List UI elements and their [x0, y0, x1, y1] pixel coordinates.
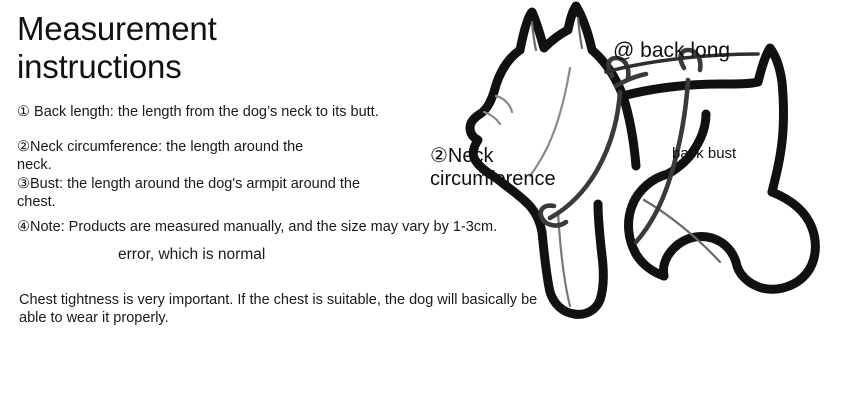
error-tolerance-text: error, which is normal — [118, 245, 265, 264]
measurement-instructions-page: Measurement instructions ① Back length: … — [0, 0, 867, 412]
instruction-neck-circumference: ②Neck circumference: the length around t… — [17, 138, 357, 174]
dog-front-legs — [542, 204, 603, 314]
callout-back-long: @ back long — [613, 38, 730, 63]
callout-neck-circumference: ②Neck circumference — [430, 145, 556, 191]
strap-rings — [541, 50, 701, 225]
callout-back-bust: back bust — [672, 145, 736, 163]
instruction-bust: ③Bust: the length around the dog's armpi… — [17, 175, 417, 211]
instruction-back-length: ① Back length: the length from the dog’s… — [17, 103, 447, 121]
dog-hind-legs — [629, 114, 816, 289]
page-title: Measurement instructions — [17, 10, 317, 86]
